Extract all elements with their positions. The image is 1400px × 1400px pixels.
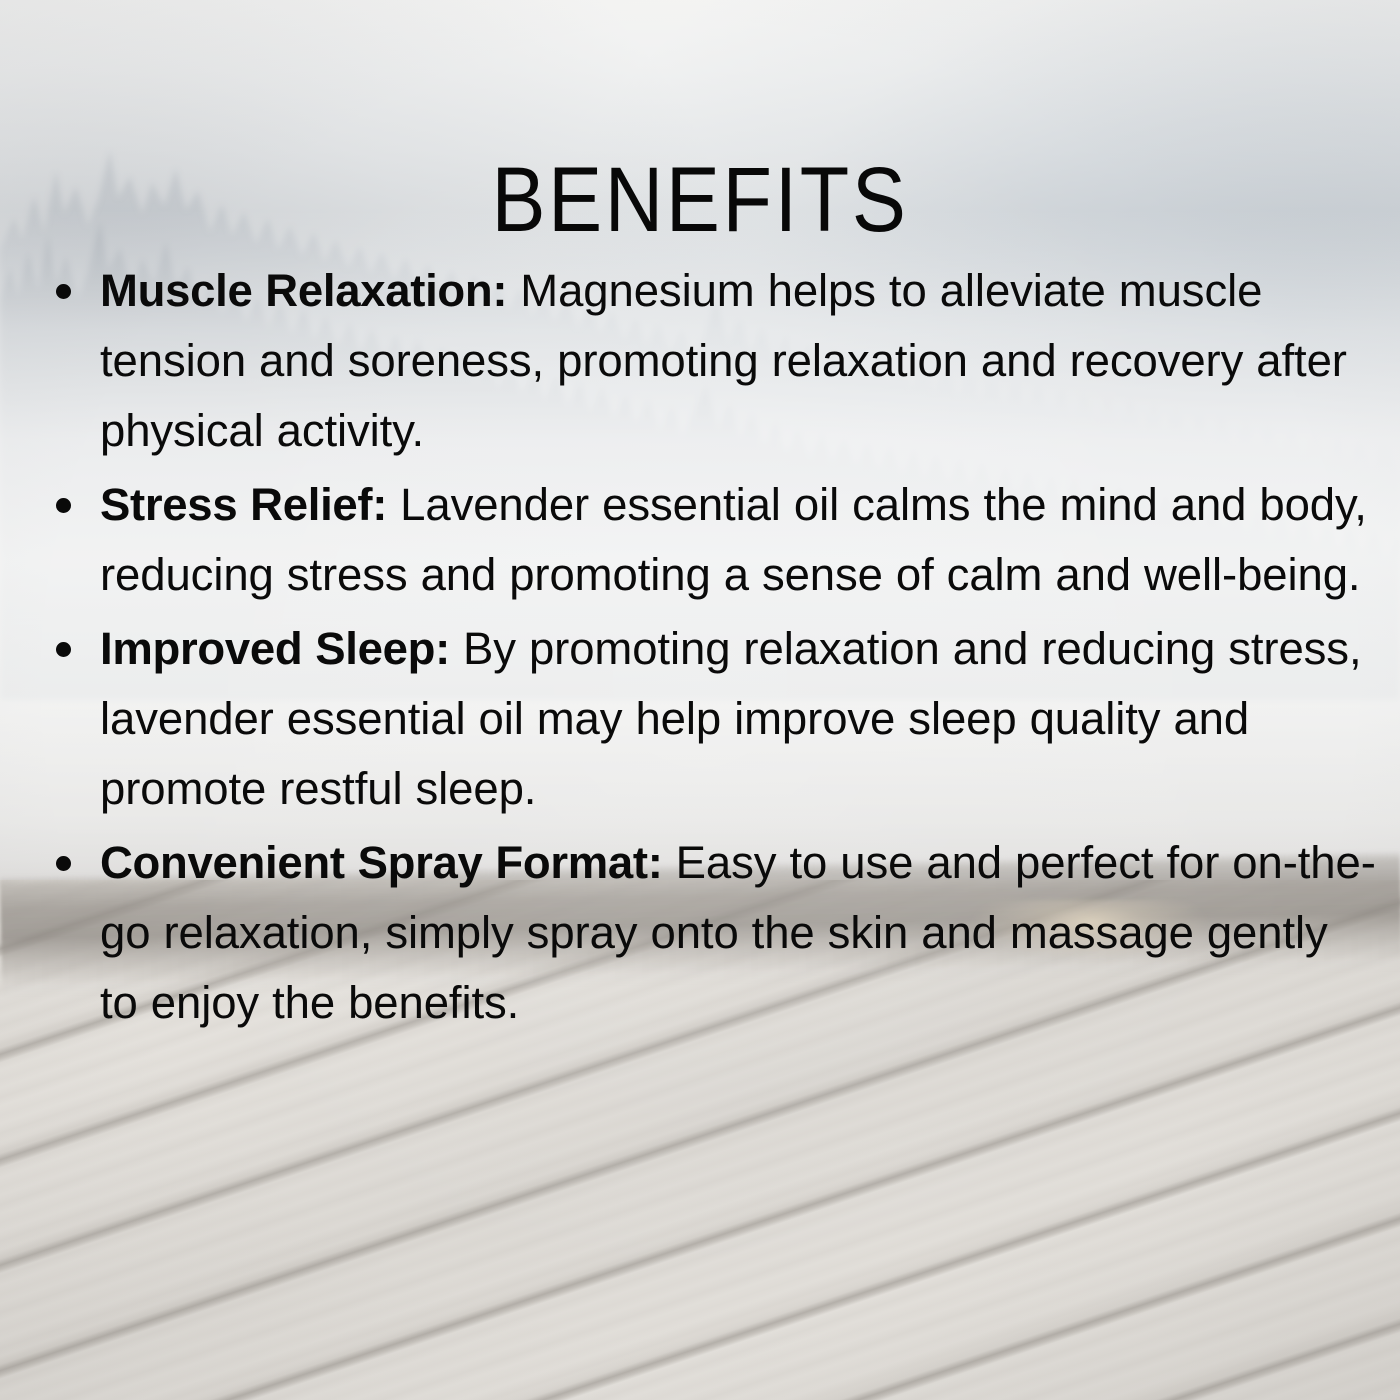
list-item: Stress Relief: Lavender essential oil ca…	[48, 470, 1378, 610]
benefits-poster: BENEFITS Muscle Relaxation: Magnesium he…	[0, 0, 1400, 1400]
list-item: Muscle Relaxation: Magnesium helps to al…	[48, 256, 1378, 466]
benefit-label: Muscle Relaxation:	[100, 265, 507, 316]
benefit-label: Stress Relief:	[100, 479, 387, 530]
bullet-dot-icon	[56, 642, 71, 657]
bullet-dot-icon	[56, 284, 71, 299]
benefit-label: Improved Sleep:	[100, 623, 450, 674]
page-title: BENEFITS	[84, 154, 1316, 246]
poster-content: BENEFITS Muscle Relaxation: Magnesium he…	[0, 0, 1400, 1400]
bullet-dot-icon	[56, 856, 71, 871]
benefit-label: Convenient Spray Format:	[100, 837, 663, 888]
benefits-list: Muscle Relaxation: Magnesium helps to al…	[48, 256, 1378, 1042]
bullet-dot-icon	[56, 498, 71, 513]
list-item: Improved Sleep: By promoting relaxation …	[48, 614, 1378, 824]
list-item: Convenient Spray Format: Easy to use and…	[48, 828, 1378, 1038]
